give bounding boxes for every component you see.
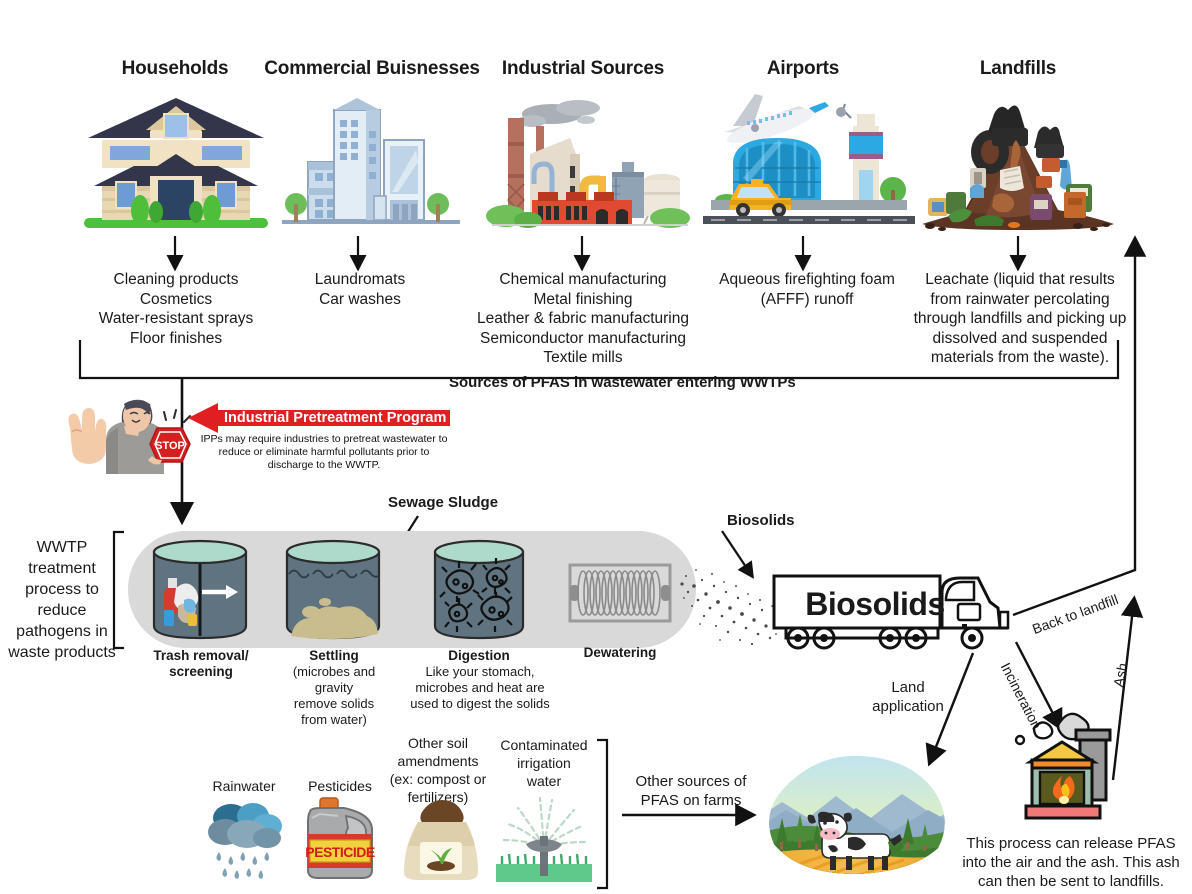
sprinkler-icon	[496, 790, 592, 882]
list-item: Laundromats	[268, 270, 452, 290]
list-item: Car washes	[268, 290, 452, 310]
sewage-sludge-label: Sewage Sludge	[388, 494, 498, 511]
farm-source-line: Pesticides	[294, 778, 386, 794]
farm-arrow-line: PFAS on farms	[622, 791, 760, 810]
step-detail-line: (microbes and	[276, 664, 392, 680]
list-item: through landfills and picking up	[912, 309, 1128, 329]
step-label-digestion: Digestion	[410, 648, 548, 664]
column-title-landfills: Landfills	[938, 58, 1098, 80]
farm-source-line: Other soil	[382, 734, 494, 752]
step-detail-line: Like your stomach,	[404, 664, 556, 680]
tank-with-microbes-icon	[429, 540, 529, 640]
farm-source-line: irrigation	[492, 754, 596, 772]
biosolids-particles	[676, 556, 786, 648]
land-application-line: Land	[860, 678, 956, 697]
ipp-banner: Industrial Pretreatment Program	[188, 403, 450, 433]
ipp-description: IPPs may require industries to pretreat …	[190, 433, 458, 472]
incinerator-icon	[1006, 706, 1126, 824]
wwtp-label-line: waste products	[8, 642, 116, 663]
column-items-industrial: Chemical manufacturing Metal finishing L…	[452, 270, 714, 368]
list-item: (AFFF) runoff	[700, 290, 914, 310]
step-detail-settling: (microbes and gravity remove solids from…	[276, 664, 392, 728]
list-item: Floor finishes	[70, 329, 282, 349]
land-application-label: Land application	[860, 678, 956, 716]
land-application-line: application	[860, 697, 956, 716]
column-items-airports: Aqueous firefighting foam (AFFF) runoff	[700, 270, 914, 309]
farm-arrow-line: Other sources of	[622, 772, 760, 791]
house-icon	[80, 86, 272, 234]
svg-text:PESTICIDE: PESTICIDE	[305, 844, 375, 860]
centrifuge-icon	[568, 563, 672, 623]
list-item: Metal finishing	[452, 290, 714, 310]
step-label-dewatering: Dewatering	[562, 645, 678, 661]
ipp-description-line: IPPs may require industries to pretreat …	[190, 433, 458, 446]
farm-source-label-irrigation: Contaminated irrigation water	[492, 736, 596, 790]
office-buildings-icon	[278, 92, 464, 234]
list-item: Cleaning products	[70, 270, 282, 290]
column-items-households: Cleaning products Cosmetics Water-resist…	[70, 270, 282, 348]
step-label-line: Digestion	[410, 648, 548, 664]
garbage-pile-icon	[908, 92, 1134, 234]
farm-source-line: (ex: compost or	[382, 770, 494, 788]
list-item: Chemical manufacturing	[452, 270, 714, 290]
ipp-banner-label: Industrial Pretreatment Program	[224, 410, 446, 426]
step-label-line: Dewatering	[562, 645, 678, 661]
list-item: Leachate (liquid that results	[912, 270, 1128, 290]
farm-source-line: Rainwater	[196, 778, 292, 794]
incinerator-note-line: can then be sent to landfills.	[950, 872, 1192, 891]
incinerator-note-line: into the air and the ash. This ash	[950, 853, 1192, 872]
step-detail-line: from water)	[276, 712, 392, 728]
list-item: Leather & fabric manufacturing	[452, 309, 714, 329]
wwtp-bracket-label: WWTP treatment process to reduce pathoge…	[8, 537, 116, 663]
ipp-description-line: reduce or eliminate harmful pollutants p…	[190, 446, 458, 459]
list-item: Textile mills	[452, 348, 714, 368]
incinerator-note: This process can release PFAS into the a…	[950, 834, 1192, 891]
farm-arrow-label: Other sources of PFAS on farms	[622, 772, 760, 810]
wwtp-label-line: process to	[8, 579, 116, 600]
column-title-households: Households	[75, 58, 275, 80]
list-item: Cosmetics	[70, 290, 282, 310]
farm-source-line: amendments	[382, 752, 494, 770]
step-label-settling: Settling	[276, 648, 392, 664]
farm-source-label-rainwater: Rainwater	[196, 778, 292, 794]
list-item: from rainwater percolating	[912, 290, 1128, 310]
truck-label: Biosolids	[800, 586, 950, 623]
step-detail-line: remove solids	[276, 696, 392, 712]
list-item: Water-resistant sprays	[70, 309, 282, 329]
back-to-landfill-label: Back to landfill	[1030, 591, 1120, 637]
biosolids-label: Biosolids	[727, 512, 795, 529]
ipp-description-line: discharge to the WWTP.	[190, 459, 458, 472]
farm-source-label-pesticides: Pesticides	[294, 778, 386, 794]
wwtp-label-line: reduce	[8, 600, 116, 621]
rain-cloud-icon	[205, 796, 287, 882]
step-detail-line: microbes and heat are	[404, 680, 556, 696]
column-title-airports: Airports	[723, 58, 883, 80]
list-item: Semiconductor manufacturing	[452, 329, 714, 349]
step-label-trash-removal: Trash removal/ screening	[140, 648, 262, 680]
svg-text:STOP: STOP	[155, 440, 185, 452]
compost-bag-icon	[396, 796, 486, 882]
list-item: dissolved and suspended	[912, 329, 1128, 349]
column-title-industrial: Industrial Sources	[487, 58, 679, 80]
list-item: Aqueous firefighting foam	[700, 270, 914, 290]
list-item: materials from the waste).	[912, 348, 1128, 368]
stop-sign-person-icon: STOP	[62, 392, 192, 474]
wwtp-label-line: WWTP	[8, 537, 116, 558]
column-items-landfills: Leachate (liquid that results from rainw…	[912, 270, 1128, 368]
ash-label: Ash	[1110, 661, 1131, 688]
step-detail-line: used to digest the solids	[404, 696, 556, 712]
factory-icon	[492, 88, 688, 234]
airport-icon	[703, 86, 915, 234]
pesticide-jug-icon: PESTICIDE	[298, 794, 382, 882]
step-label-line: screening	[140, 664, 262, 680]
wwtp-label-line: pathogens in	[8, 621, 116, 642]
column-items-commercial: Laundromats Car washes	[268, 270, 452, 309]
step-label-line: Settling	[276, 648, 392, 664]
column-title-commercial: Commercial Buisnesses	[258, 58, 486, 80]
step-detail-line: gravity	[276, 680, 392, 696]
sources-banner-label: Sources of PFAS in wastewater entering W…	[449, 374, 796, 391]
farm-source-line: Contaminated	[492, 736, 596, 754]
step-label-line: Trash removal/	[140, 648, 262, 664]
wwtp-label-line: treatment	[8, 558, 116, 579]
tank-with-trash-icon	[148, 540, 252, 640]
incinerator-note-line: This process can release PFAS	[950, 834, 1192, 853]
farm-field-with-cow-icon	[752, 752, 958, 878]
farm-source-line: water	[492, 772, 596, 790]
tank-with-sediment-icon	[281, 540, 385, 640]
step-detail-digestion: Like your stomach, microbes and heat are…	[404, 664, 556, 712]
